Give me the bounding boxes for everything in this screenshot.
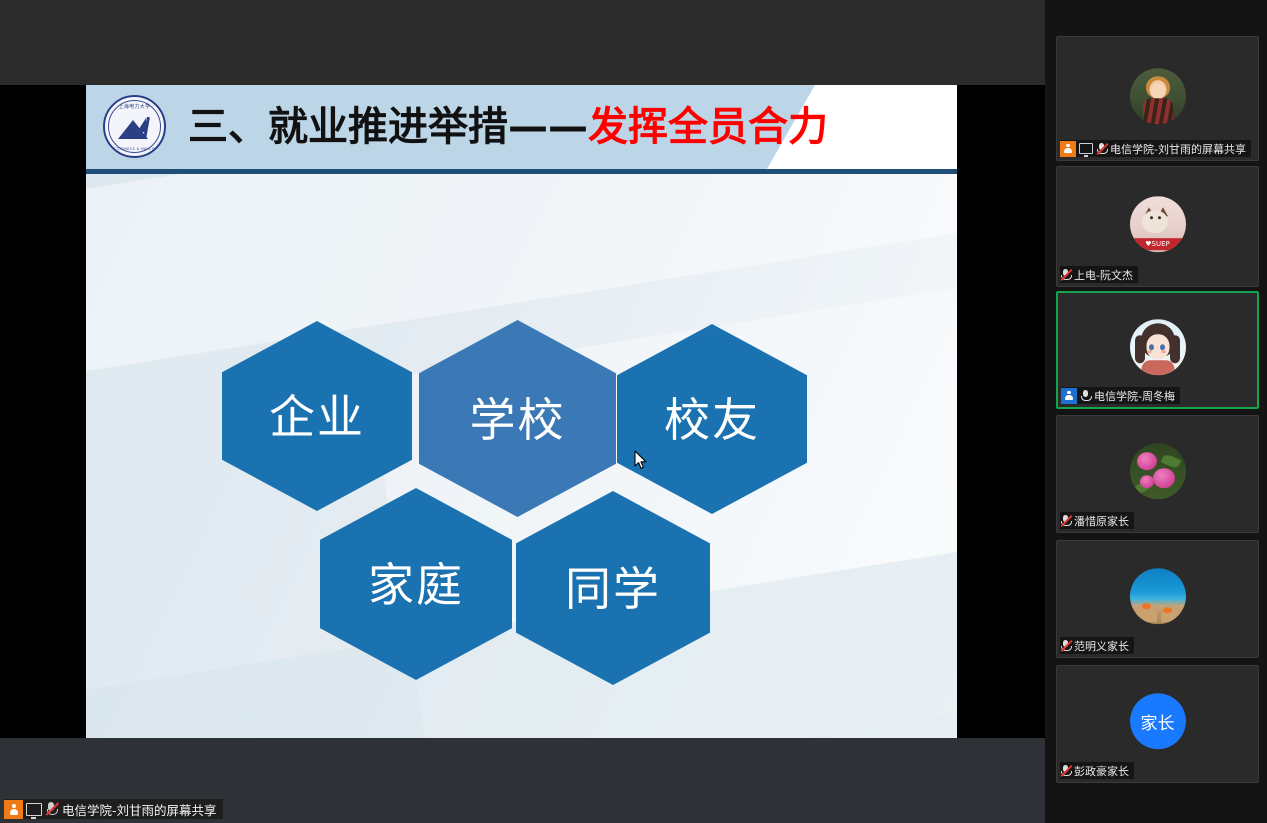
seal-emblem-icon (118, 117, 152, 139)
university-seal-logo: 上海电力大学 ELECTRONICS & INFO ENG. (103, 95, 166, 158)
text-initial-avatar: 家长 (1130, 693, 1186, 749)
participant-name: 电信学院-刘甘雨的屏幕共享 (1110, 141, 1246, 157)
screen-share-monitor-icon (1079, 143, 1093, 155)
slide-header-band: 上海电力大学 ELECTRONICS & INFO ENG. 三、就业推进举措—… (86, 85, 957, 169)
share-status-label: 电信学院-刘甘雨的屏幕共享 (62, 800, 217, 819)
coral-reef-avatar (1130, 568, 1186, 624)
slide-title: 三、就业推进举措——发挥全员合力 (188, 99, 828, 155)
participant-tile[interactable]: 范明义家长 (1056, 540, 1259, 658)
mic-unmuted-icon (1080, 389, 1091, 403)
hexagon-label: 家庭 (368, 549, 464, 615)
participant-name-row: 彭政豪家长 (1060, 762, 1134, 779)
participant-name-row: 电信学院-周冬梅 (1061, 387, 1180, 404)
anime-girl-avatar (1130, 319, 1186, 375)
participant-person-icon (1061, 388, 1077, 404)
seal-top-text: 上海电力大学 (105, 103, 164, 110)
avatar-initials: 家长 (1141, 709, 1175, 734)
girl-photo-avatar (1130, 68, 1186, 124)
host-person-icon (1060, 141, 1076, 157)
pink-flowers-avatar (1130, 443, 1186, 499)
participant-name: 彭政豪家长 (1074, 763, 1129, 779)
hexagon-label: 校友 (664, 384, 760, 450)
hexagon-label: 同学 (565, 553, 661, 619)
participant-name-row: 潘惜原家长 (1060, 512, 1134, 529)
participant-name-row: 范明义家长 (1060, 637, 1134, 654)
participant-name: 潘惜原家长 (1074, 513, 1129, 529)
participant-filmstrip[interactable]: 电信学院-刘甘雨的屏幕共享♥SUEP上电-阮文杰电信学院-周冬梅潘惜原家长范明义… (1045, 0, 1267, 823)
presentation-slide: 上海电力大学 ELECTRONICS & INFO ENG. 三、就业推进举措—… (86, 85, 957, 738)
mic-muted-icon (1096, 142, 1107, 156)
cat-photo-avatar: ♥SUEP (1130, 196, 1186, 252)
mic-muted-icon (1060, 764, 1071, 778)
mic-muted-icon (45, 801, 57, 817)
participant-name: 范明义家长 (1074, 638, 1129, 654)
avatar-caption: ♥SUEP (1145, 240, 1170, 248)
participant-tile[interactable]: ♥SUEP上电-阮文杰 (1056, 166, 1259, 287)
screen-share-stage: 上海电力大学 ELECTRONICS & INFO ENG. 三、就业推进举措—… (0, 0, 1045, 823)
share-status-banner: 电信学院-刘甘雨的屏幕共享 (4, 799, 223, 819)
mic-muted-icon (1060, 514, 1071, 528)
mic-muted-icon (1060, 639, 1071, 653)
participant-tile[interactable]: 家长彭政豪家长 (1056, 665, 1259, 783)
participant-tile[interactable]: 潘惜原家长 (1056, 415, 1259, 533)
participant-name-row: 电信学院-刘甘雨的屏幕共享 (1060, 140, 1251, 157)
hexagon-label: 企业 (269, 381, 365, 447)
slide-title-red: 发挥全员合力 (588, 104, 828, 150)
participant-name-row: 上电-阮文杰 (1060, 266, 1138, 283)
slide-body: 企业学校校友家庭同学 (86, 174, 957, 738)
slide-title-black: 三、就业推进举措—— (188, 104, 588, 150)
stage-top-letterbox (0, 0, 1045, 85)
host-person-icon (4, 800, 23, 819)
participant-name: 电信学院-周冬梅 (1094, 388, 1175, 404)
screen-share-monitor-icon (26, 803, 42, 816)
mic-muted-icon (1060, 268, 1071, 282)
participant-name: 上电-阮文杰 (1074, 267, 1133, 283)
participant-tile[interactable]: 电信学院-刘甘雨的屏幕共享 (1056, 36, 1259, 161)
participant-tile[interactable]: 电信学院-周冬梅 (1056, 291, 1259, 409)
seal-bottom-text: ELECTRONICS & INFO ENG. (105, 147, 164, 151)
hexagon-label: 学校 (470, 384, 566, 450)
